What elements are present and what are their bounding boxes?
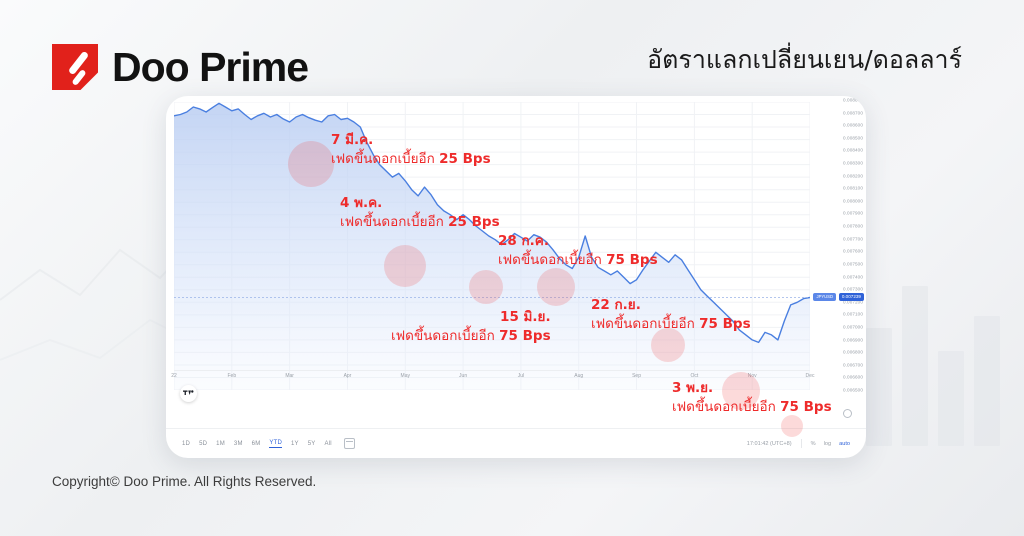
highlight-circle-4 <box>469 270 503 304</box>
annotation-4: 15 มิ.ย. เฟดขึ้นดอกเบี้ยอีก 75 Bps <box>391 308 551 345</box>
clock-label: 17:01:42 (UTC+8) <box>747 441 792 447</box>
tradingview-glyph <box>183 389 194 398</box>
highlight-circle-1 <box>288 141 334 187</box>
time-tick: Sep <box>632 373 641 379</box>
annotation-6-text: เฟดขึ้นดอกเบี้ยอีก 75 Bps <box>672 398 832 417</box>
annotation-2: 4 พ.ค. เฟดขึ้นดอกเบี้ยอีก 25 Bps <box>340 194 500 231</box>
chart-plot <box>174 102 810 390</box>
scale-log-button[interactable]: log <box>824 441 831 447</box>
calendar-icon[interactable] <box>344 438 355 449</box>
scale-buttons[interactable]: %logauto <box>811 441 850 447</box>
time-tick: Mar <box>285 373 294 379</box>
doo-prime-mark-icon <box>52 44 98 90</box>
page-title: อัตราแลกเปลี่ยนเยน/ดอลลาร์ <box>647 40 962 80</box>
brand-name: Doo Prime <box>112 47 308 88</box>
highlight-circle-3 <box>537 268 575 306</box>
price-tick: 0.008500 <box>843 135 863 140</box>
annotation-5-date: 22 ก.ย. <box>591 296 751 315</box>
range-1m[interactable]: 1M <box>216 441 225 447</box>
annotation-5-text: เฟดขึ้นดอกเบี้ยอีก 75 Bps <box>591 315 751 334</box>
annotation-3: 28 ก.ค. เฟดขึ้นดอกเบี้ยอีก 75 Bps <box>498 232 658 269</box>
annotation-1: 7 มี.ค. เฟดขึ้นดอกเบี้ยอีก 25 Bps <box>331 131 491 168</box>
price-tick: 0.006900 <box>843 337 863 342</box>
range-ytd[interactable]: YTD <box>269 440 282 448</box>
time-tick: May <box>401 373 410 379</box>
price-tick: 0.006600 <box>843 375 863 380</box>
highlight-circle-2 <box>384 245 426 287</box>
price-tick: 0.008700 <box>843 110 863 115</box>
annotation-4-date: 15 มิ.ย. <box>391 308 551 327</box>
copyright-text: Copyright© Doo Prime. All Rights Reserve… <box>52 474 316 489</box>
time-tick: 22 <box>171 373 177 379</box>
annotation-1-text: เฟดขึ้นดอกเบี้ยอีก 25 Bps <box>331 150 491 169</box>
price-tick: 0.008600 <box>843 123 863 128</box>
time-tick: Aug <box>574 373 583 379</box>
annotation-6-date: 3 พ.ย. <box>672 379 832 398</box>
price-tick: 0.007600 <box>843 249 863 254</box>
range-5d[interactable]: 5D <box>199 441 207 447</box>
annotation-5: 22 ก.ย. เฟดขึ้นดอกเบี้ยอีก 75 Bps <box>591 296 751 333</box>
range-3m[interactable]: 3M <box>234 441 243 447</box>
brand-logo: Doo Prime <box>52 44 308 90</box>
range-1y[interactable]: 1Y <box>291 441 299 447</box>
annotation-3-date: 28 ก.ค. <box>498 232 658 251</box>
price-tick: 0.007800 <box>843 224 863 229</box>
scale-auto-button[interactable]: auto <box>839 441 850 447</box>
time-tick: Feb <box>228 373 237 379</box>
annotation-6: 3 พ.ย. เฟดขึ้นดอกเบี้ยอีก 75 Bps <box>672 379 832 416</box>
range-all[interactable]: All <box>325 441 332 447</box>
time-tick: Apr <box>344 373 352 379</box>
time-tick: Jun <box>459 373 467 379</box>
symbol-tag: JPYUSD <box>813 293 836 301</box>
price-tick: 0.006800 <box>843 350 863 355</box>
price-area-series <box>174 102 810 390</box>
highlight-circle-7 <box>781 415 803 437</box>
gear-icon[interactable] <box>843 409 852 418</box>
price-tick: 0.008400 <box>843 148 863 153</box>
price-tick: 0.007300 <box>843 287 863 292</box>
price-tick: 0.007500 <box>843 261 863 266</box>
annotation-2-text: เฟดขึ้นดอกเบี้ยอีก 25 Bps <box>340 213 500 232</box>
price-tick: 0.008800 <box>843 98 863 103</box>
price-scale[interactable]: 0.0088000.0087000.0086000.0085000.008400… <box>810 100 866 390</box>
scale-%-button[interactable]: % <box>811 441 816 447</box>
tradingview-logo-icon[interactable] <box>180 385 197 402</box>
price-tick: 0.006500 <box>843 388 863 393</box>
price-tick: 0.007900 <box>843 211 863 216</box>
annotation-1-date: 7 มี.ค. <box>331 131 491 150</box>
price-tick: 0.007700 <box>843 236 863 241</box>
chart-toolbar: 1D5D1M3M6MYTD1Y5YAll 17:01:42 (UTC+8) %l… <box>166 428 866 458</box>
price-tick: 0.008100 <box>843 186 863 191</box>
price-tick: 0.007400 <box>843 274 863 279</box>
annotation-3-text: เฟดขึ้นดอกเบี้ยอีก 75 Bps <box>498 251 658 270</box>
range-6m[interactable]: 6M <box>252 441 261 447</box>
time-tick: Jul <box>518 373 524 379</box>
price-tick: 0.006700 <box>843 362 863 367</box>
annotation-4-text: เฟดขึ้นดอกเบี้ยอีก 75 Bps <box>391 327 551 346</box>
price-tick: 0.008300 <box>843 161 863 166</box>
annotation-2-date: 4 พ.ค. <box>340 194 500 213</box>
range-5y[interactable]: 5Y <box>308 441 316 447</box>
price-tick: 0.008200 <box>843 173 863 178</box>
price-tick: 0.008000 <box>843 198 863 203</box>
range-1d[interactable]: 1D <box>182 441 190 447</box>
price-tick: 0.007000 <box>843 324 863 329</box>
range-selector[interactable]: 1D5D1M3M6MYTD1Y5YAll <box>182 440 332 448</box>
divider <box>801 439 802 448</box>
price-tick: 0.007100 <box>843 312 863 317</box>
current-price-badge: 0.007239 <box>839 293 864 301</box>
